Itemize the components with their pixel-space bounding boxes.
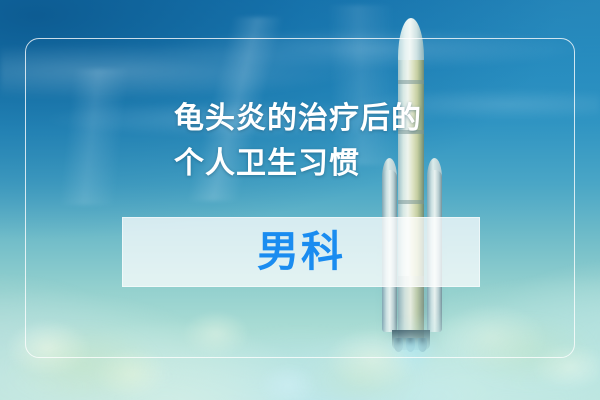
- rocket-nose-cone: [398, 18, 424, 64]
- category-badge-bar: 男科: [122, 217, 480, 287]
- category-badge-label: 男科: [257, 231, 345, 273]
- poster-canvas: 龟头炎的治疗后的 个人卫生习惯 男科: [0, 0, 600, 400]
- rocket-band-upper: [398, 80, 424, 84]
- title-line-2: 个人卫生习惯: [174, 141, 474, 186]
- title-line-1: 龟头炎的治疗后的: [174, 96, 474, 141]
- poster-title: 龟头炎的治疗后的 个人卫生习惯: [174, 96, 474, 186]
